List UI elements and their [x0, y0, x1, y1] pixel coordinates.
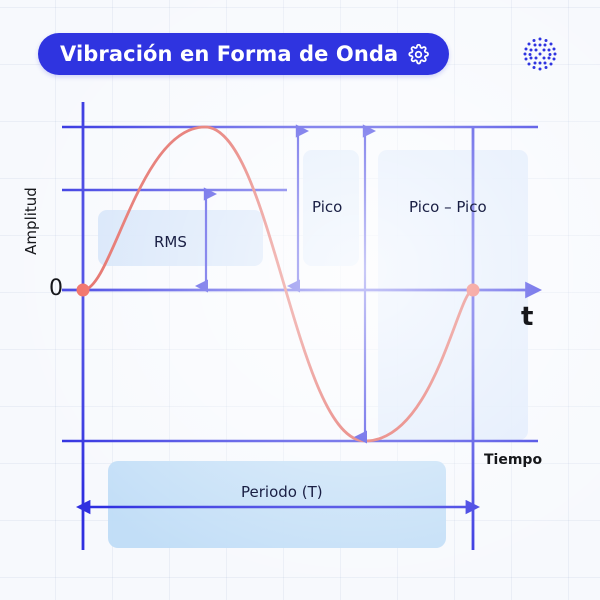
page-title: Vibración en Forma de Onda [60, 42, 398, 66]
periodo-label: Periodo (T) [241, 483, 323, 501]
infographic-root: Amplitud 0 t RMS Pico Pico – Pico Period… [0, 0, 600, 600]
pico-pico-label: Pico – Pico [409, 198, 487, 216]
title-pill[interactable]: Vibración en Forma de Onda [38, 33, 449, 75]
wave-end-marker [467, 284, 480, 297]
waveform-chart [0, 0, 600, 600]
x-axis-symbol-label: t [521, 302, 533, 332]
wave-start-marker [77, 284, 90, 297]
x-axis-label: Tiempo [484, 452, 542, 468]
pico-label: Pico [312, 198, 342, 216]
highlight-box-periodo [108, 461, 446, 548]
y-axis-label: Amplitud [22, 171, 40, 271]
gear-icon[interactable] [408, 44, 429, 65]
origin-label: 0 [49, 276, 63, 301]
rms-label: RMS [154, 233, 187, 251]
highlight-box-pico-pico [378, 150, 528, 440]
